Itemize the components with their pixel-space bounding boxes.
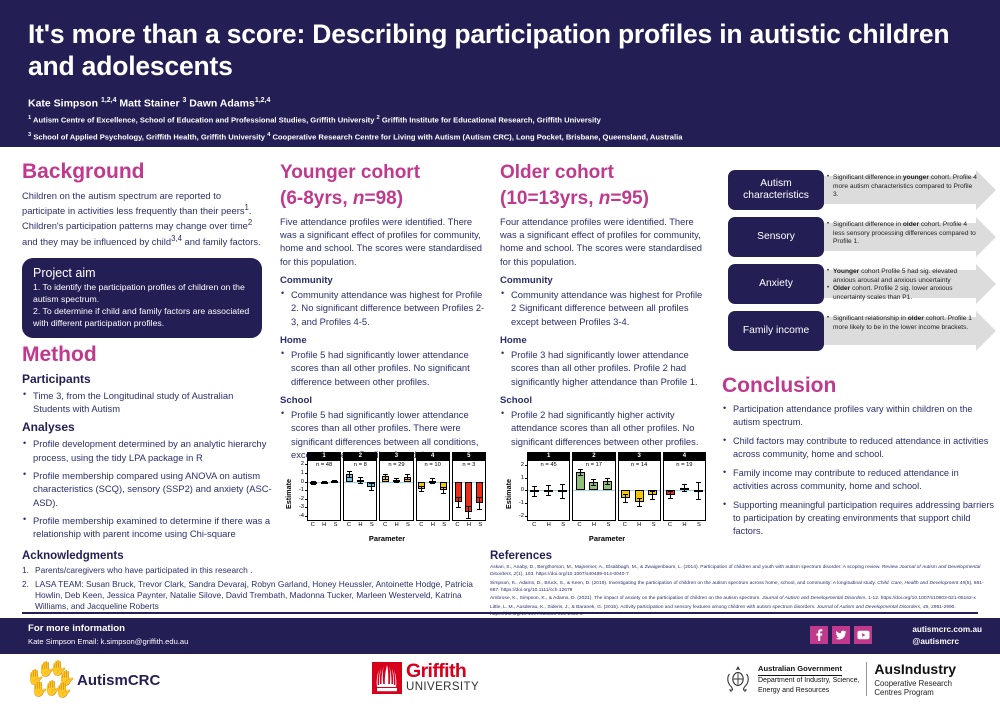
error-bar-cap-upper — [405, 474, 410, 475]
panel-sample-size: n = 3 — [453, 462, 485, 468]
panel-strip-label: 1 — [527, 452, 570, 461]
error-bar-cap-lower — [637, 506, 642, 507]
x-tick-label: C — [455, 522, 459, 528]
error-bar-cap-upper — [650, 491, 655, 492]
error-bar-cap-upper — [623, 494, 628, 495]
chart-panel-1: 1n = 48CHS — [307, 452, 341, 528]
error-bar-cap-lower — [347, 477, 352, 478]
panel-strip-label: 4 — [416, 452, 450, 461]
chart-panels: 1n = 48CHS2n = 8CHS3n = 29CHS4n = 10CHS5… — [307, 452, 486, 528]
affiliation-line-2: 3 School of Applied Psychology, Griffith… — [28, 131, 972, 143]
zero-reference-line — [573, 490, 614, 491]
younger-heading-line2: (6-8yrs, n=98) — [280, 188, 488, 209]
panel-x-ticks: CHS — [572, 522, 615, 528]
error-bar-cap-upper — [578, 469, 583, 470]
section-acknowledgments: Acknowledgments 1.Parents/caregivers who… — [22, 550, 477, 615]
list-item: Supporting meaningful participation requ… — [722, 499, 994, 538]
x-tick-label: C — [532, 522, 536, 528]
subsection-heading-school: School — [280, 395, 488, 406]
chart-panel-4: 4n = 19CHS — [663, 452, 706, 528]
younger-intro: Five attendance profiles were identified… — [280, 215, 488, 268]
x-tick-label: H — [395, 522, 399, 528]
x-tick-label: C — [623, 522, 627, 528]
panel-strip-label: 3 — [618, 452, 661, 461]
error-bar-cap-lower — [668, 498, 673, 499]
panel-plot-area: n = 48 — [307, 461, 341, 521]
acknowledgments-list: 1.Parents/caregivers who have participat… — [22, 565, 477, 612]
panel-sample-size: n = 8 — [344, 462, 376, 468]
x-tick-label: H — [322, 522, 326, 528]
factor-label: Autism characteristics — [728, 170, 824, 210]
panel-sample-size: n = 19 — [664, 462, 705, 468]
panel-x-ticks: CHS — [379, 522, 413, 528]
chart-y-axis-label: Estimate — [284, 479, 293, 509]
chart-panel-3: 3n = 29CHS — [379, 452, 413, 528]
x-tick-label: C — [347, 522, 351, 528]
x-tick-label: C — [577, 522, 581, 528]
x-tick-label: H — [467, 522, 471, 528]
older-intro: Four attendance profiles were identified… — [500, 215, 710, 268]
x-tick-label: H — [431, 522, 435, 528]
panel-plot-area: n = 29 — [379, 461, 413, 521]
affiliation-line-1: 1 Autism Centre of Excellence, School of… — [28, 114, 972, 126]
government-line-2: Department of Industry, Science, — [758, 676, 859, 685]
government-line-3: Energy and Resources — [758, 686, 859, 695]
background-heading: Background — [22, 160, 262, 184]
x-tick-label: H — [358, 522, 362, 528]
reference-item: Ambrose, K., Simpson, K., & Adams, D. (2… — [490, 595, 990, 602]
x-tick-label: C — [419, 522, 423, 528]
error-bar-cap-lower — [441, 493, 446, 494]
footer-website[interactable]: autismcrc.com.au — [912, 624, 982, 636]
y-tick-label: 0 — [521, 487, 524, 493]
facebook-icon[interactable] — [810, 626, 828, 644]
error-bar-cap-lower — [532, 496, 537, 497]
list-item: Profile 2 had significantly higher activ… — [500, 408, 710, 448]
list-item: Child factors may contribute to reduced … — [722, 435, 994, 461]
error-bar-cap-upper — [322, 481, 327, 482]
older-heading-line2: (10=13yrs, n=95) — [500, 188, 710, 209]
hands-icon: ✋ ✋ ✋ ✋ ✋ ✋ ✋ — [24, 660, 72, 700]
list-item: Profile membership compared using ANOVA … — [22, 469, 272, 509]
factor-arrow-row: Autism characteristicsSignificant differ… — [728, 170, 996, 210]
panel-plot-area: n = 17 — [572, 461, 615, 521]
error-bar-cap-upper — [668, 491, 673, 492]
error-bar-cap-upper — [532, 486, 537, 487]
footer-handle[interactable]: @autismcrc — [912, 636, 982, 648]
subsection-heading-home: Home — [280, 335, 488, 346]
panel-plot-area: n = 19 — [663, 461, 706, 521]
panel-plot-area: n = 3 — [452, 461, 486, 521]
background-paragraph: Children on the autism spectrum are repo… — [22, 189, 262, 249]
more-info-title: For more information — [28, 623, 125, 634]
error-bar-cap-lower — [560, 498, 565, 499]
error-bar-cap-lower — [546, 495, 551, 496]
error-bar-cap-upper — [560, 484, 565, 485]
error-bar-cap-upper — [546, 485, 551, 486]
panel-strip-label: 1 — [307, 452, 341, 461]
error-bar-cap-upper — [332, 480, 337, 481]
griffith-university-logo: Griffith UNIVERSITY — [372, 662, 479, 694]
chart-panel-1: 1n = 45CHS — [527, 452, 570, 528]
panel-sample-size: n = 29 — [380, 462, 412, 468]
error-bar-cap-lower — [394, 482, 399, 483]
older-heading-line1: Older cohort — [500, 162, 710, 183]
error-bar-cap-lower — [650, 499, 655, 500]
panel-strip-label: 2 — [343, 452, 377, 461]
panel-x-ticks: CHS — [663, 522, 706, 528]
y-tick-label: 2 — [301, 461, 304, 467]
error-bar — [468, 506, 469, 519]
panel-sample-size: n = 17 — [573, 462, 614, 468]
list-item: Profile development determined by an ana… — [22, 437, 272, 464]
error-bar-cap-lower — [477, 509, 482, 510]
x-tick-label: S — [370, 522, 374, 528]
error-bar-cap-upper — [682, 484, 687, 485]
error-bar-cap-lower — [591, 485, 596, 486]
panel-x-ticks: CHS — [343, 522, 377, 528]
error-bar — [625, 494, 626, 502]
error-bar — [371, 483, 372, 490]
x-tick-label: S — [334, 522, 338, 528]
ausindustry-title: AusIndustry — [874, 661, 956, 679]
contact-info: Kate Simpson Email: k.simpson@griffith.e… — [28, 637, 188, 646]
panel-strip-label: 4 — [663, 452, 706, 461]
griffith-university-text: UNIVERSITY — [406, 681, 479, 694]
autismcrc-logo: ✋ ✋ ✋ ✋ ✋ ✋ ✋ AutismCRC — [24, 660, 160, 700]
error-bar-cap-lower — [430, 483, 435, 484]
y-tick-label: -4 — [299, 513, 304, 519]
error-bar-cap-lower — [623, 502, 628, 503]
autismcrc-wordmark: AutismCRC — [77, 672, 160, 689]
x-tick-label: S — [406, 522, 410, 528]
list-item: Community attendance was highest for Pro… — [500, 288, 710, 328]
panel-sample-size: n = 45 — [528, 462, 569, 468]
error-bar — [534, 486, 535, 496]
error-bar-cap-lower — [332, 482, 337, 483]
subsection-heading-community: Community — [280, 275, 488, 286]
project-aim-2: 2. To determine if child and family fact… — [33, 305, 251, 329]
list-item: Profile 3 had significantly lower attend… — [500, 348, 710, 388]
error-bar-cap-lower — [383, 479, 388, 480]
error-bar — [698, 482, 699, 499]
error-bar — [670, 491, 671, 498]
error-bar — [548, 485, 549, 495]
error-bar-cap-lower — [578, 475, 583, 476]
error-bar — [684, 484, 685, 491]
list-item: Time 3, from the Longitudinal study of A… — [22, 389, 272, 416]
list-item: Family income may contribute to reduced … — [722, 467, 994, 493]
x-tick-label: S — [697, 522, 701, 528]
panel-x-ticks: CHS — [307, 522, 341, 528]
x-tick-label: C — [383, 522, 387, 528]
chart-panels: 1n = 45CHS2n = 17CHS3n = 14CHS4n = 19CHS — [527, 452, 706, 528]
section-older-cohort: Older cohort (10=13yrs, n=95) Four atten… — [500, 162, 710, 453]
panel-plot-area: n = 10 — [416, 461, 450, 521]
panel-x-ticks: CHS — [452, 522, 486, 528]
chart-panel-2: 2n = 8CHS — [343, 452, 377, 528]
youtube-icon[interactable] — [854, 626, 872, 644]
x-tick-label: C — [668, 522, 672, 528]
error-bar-cap-upper — [369, 483, 374, 484]
panel-sample-size: n = 48 — [308, 462, 340, 468]
factor-arrow-row: AnxietyYounger cohort Profile 5 had sig.… — [728, 264, 996, 304]
list-item: Community attendance was highest for Pro… — [280, 288, 488, 328]
error-bar-cap-upper — [637, 498, 642, 499]
section-references: References Askari, S., Anaby, D., Bergth… — [490, 550, 990, 620]
error-bar-cap-upper — [383, 474, 388, 475]
references-list: Askari, S., Anaby, D., Bergthorson, M., … — [490, 564, 990, 619]
chart-x-axis-label: Parameter — [504, 534, 710, 543]
x-tick-label: H — [547, 522, 551, 528]
government-line-1: Australian Government — [758, 664, 842, 676]
griffith-name: Griffith — [406, 662, 479, 681]
error-bar-cap-lower — [311, 484, 316, 485]
factor-arrow-row: Family incomeSignificant relationship in… — [728, 311, 996, 351]
factor-label: Anxiety — [728, 264, 824, 304]
y-tick-label: 1 — [301, 470, 304, 476]
error-bar-cap-lower — [682, 491, 687, 492]
panel-sample-size: n = 10 — [417, 462, 449, 468]
factor-arrow-row: SensorySignificant difference in older c… — [728, 217, 996, 257]
analyses-heading: Analyses — [22, 420, 272, 434]
project-aim-title: Project aim — [33, 266, 251, 280]
conclusion-heading: Conclusion — [722, 374, 994, 398]
poster-header: It's more than a score: Describing parti… — [0, 0, 1000, 147]
y-tick-label: -2 — [299, 496, 304, 502]
x-tick-label: S — [442, 522, 446, 528]
panel-strip-label: 2 — [572, 452, 615, 461]
x-tick-label: H — [592, 522, 596, 528]
section-background: Background Children on the autism spectr… — [22, 160, 262, 338]
footer-bar: For more information Kate Simpson Email:… — [0, 618, 1000, 654]
reference-item: Askari, S., Anaby, D., Bergthorson, M., … — [490, 564, 990, 579]
error-bar — [562, 484, 563, 498]
chart-panel-2: 2n = 17CHS — [572, 452, 615, 528]
error-bar-cap-upper — [430, 478, 435, 479]
participants-list: Time 3, from the Longitudinal study of A… — [22, 389, 272, 416]
section-conclusion: Conclusion Participation attendance prof… — [722, 374, 994, 544]
panel-strip-label: 5 — [452, 452, 486, 461]
x-tick-label: S — [478, 522, 482, 528]
x-tick-label: S — [652, 522, 656, 528]
error-bar-cap-lower — [405, 479, 410, 480]
y-tick-label: -3 — [299, 504, 304, 510]
analyses-list: Profile development determined by an ana… — [22, 437, 272, 540]
error-bar-cap-lower — [456, 507, 461, 508]
conclusion-list: Participation attendance profiles vary w… — [722, 403, 994, 539]
panel-strip-label: 3 — [379, 452, 413, 461]
subsection-list: Profile 3 had significantly lower attend… — [500, 348, 710, 388]
error-bar-cap-upper — [591, 479, 596, 480]
logo-divider — [866, 662, 867, 696]
panel-x-ticks: CHS — [527, 522, 570, 528]
footer-website-block: autismcrc.com.au @autismcrc — [912, 624, 982, 648]
error-bar-cap-lower — [322, 483, 327, 484]
acknowledgments-heading: Acknowledgments — [22, 550, 477, 562]
ausindustry-sub-1: Cooperative Research — [874, 679, 956, 689]
error-bar — [458, 497, 459, 507]
ausindustry-block: AusIndustry Cooperative Research Centres… — [874, 661, 956, 698]
acknowledgment-item: 1.Parents/caregivers who have participat… — [22, 565, 477, 576]
australian-government-logo: Australian Government Department of Indu… — [725, 661, 956, 698]
chart-x-axis-label: Parameter — [284, 534, 490, 543]
chart-panel-3: 3n = 14CHS — [618, 452, 661, 528]
error-bar-cap-upper — [605, 478, 610, 479]
error-bar-cap-lower — [369, 490, 374, 491]
chart-younger-cohort: Estimate210-1-2-3-41n = 48CHS2n = 8CHS3n… — [284, 448, 490, 548]
acknowledgment-item: 2.LASA TEAM: Susan Bruck, Trevor Clark, … — [22, 579, 477, 612]
logo-row: ✋ ✋ ✋ ✋ ✋ ✋ ✋ AutismCRC Griffith UNIVERS… — [0, 656, 1000, 707]
griffith-wordmark: Griffith UNIVERSITY — [406, 662, 479, 693]
error-bar — [652, 491, 653, 499]
younger-heading-line1: Younger cohort — [280, 162, 488, 183]
error-bar — [479, 497, 480, 509]
ausindustry-sub-2: Centres Program — [874, 688, 956, 698]
panel-plot-area: n = 8 — [343, 461, 377, 521]
error-bar-cap-upper — [394, 478, 399, 479]
footer-divider — [22, 612, 978, 614]
commonwealth-crest-icon — [725, 664, 751, 694]
panel-x-ticks: CHS — [618, 522, 661, 528]
list-item: Profile membership examined to determine… — [22, 514, 272, 541]
section-younger-cohort: Younger cohort (6-8yrs, n=98) Five atten… — [280, 162, 488, 466]
social-links — [810, 626, 872, 644]
government-text-block: Australian Government Department of Indu… — [758, 664, 859, 695]
author-list: Kate Simpson 1,2,4 Matt Stainer 3 Dawn A… — [28, 97, 972, 110]
older-sections: CommunityCommunity attendance was highes… — [500, 275, 710, 448]
factor-finding-text: Younger cohort Profile 5 had sig. elevat… — [827, 268, 979, 303]
error-bar-cap-lower — [466, 518, 471, 519]
error-bar-cap-upper — [696, 482, 701, 483]
method-heading: Method — [22, 343, 272, 367]
panel-sample-size: n = 14 — [619, 462, 660, 468]
subsection-heading-school: School — [500, 395, 710, 406]
subsection-list: Profile 2 had significantly higher activ… — [500, 408, 710, 448]
error-bar-cap-upper — [477, 497, 482, 498]
chart-y-axis-label: Estimate — [504, 479, 513, 509]
y-tick-label: -1 — [299, 487, 304, 493]
poster-canvas: It's more than a score: Describing parti… — [0, 0, 1000, 707]
subsection-list: Community attendance was highest for Pro… — [500, 288, 710, 328]
reference-item: Simpson, K., Adams, D., Bruck, S., & Kee… — [490, 580, 990, 595]
x-tick-label: H — [682, 522, 686, 528]
x-tick-label: H — [637, 522, 641, 528]
factor-finding-text: Significant difference in older cohort. … — [827, 221, 979, 247]
error-bar-cap-upper — [456, 497, 461, 498]
error-bar-cap-lower — [696, 499, 701, 500]
page-title: It's more than a score: Describing parti… — [28, 18, 972, 83]
y-tick-label: 0 — [301, 479, 304, 485]
error-bar-cap-upper — [347, 471, 352, 472]
subsection-heading-community: Community — [500, 275, 710, 286]
error-bar-cap-lower — [605, 484, 610, 485]
panel-plot-area: n = 14 — [618, 461, 661, 521]
participants-heading: Participants — [22, 372, 272, 386]
error-bar — [639, 498, 640, 506]
griffith-flame-icon — [372, 662, 402, 694]
chart-panel-5: 5n = 3CHS — [452, 452, 486, 528]
error-bar-cap-lower — [358, 483, 363, 484]
chart-older-cohort: Estimate210-1-21n = 45CHS2n = 17CHS3n = … — [504, 448, 710, 548]
y-tick-label: -1 — [519, 500, 524, 506]
factor-finding-text: Significant difference in younger cohort… — [827, 174, 979, 200]
factor-finding-text: Significant relationship in older cohort… — [827, 315, 979, 332]
panel-plot-area: n = 45 — [527, 461, 570, 521]
twitter-icon[interactable] — [832, 626, 850, 644]
error-bar-cap-upper — [466, 506, 471, 507]
error-bar-cap-upper — [419, 486, 424, 487]
project-aim-1: 1. To identify the participation profile… — [33, 281, 251, 305]
factor-arrows: Autism characteristicsSignificant differ… — [728, 170, 996, 358]
factor-label: Family income — [728, 311, 824, 351]
y-tick-label: 2 — [521, 462, 524, 468]
list-item: Profile 5 had significantly lower attend… — [280, 348, 488, 388]
factor-label: Sensory — [728, 217, 824, 257]
error-bar-cap-upper — [358, 477, 363, 478]
panel-x-ticks: CHS — [416, 522, 450, 528]
y-tick-label: 1 — [521, 475, 524, 481]
x-tick-label: S — [606, 522, 610, 528]
list-item: Participation attendance profiles vary w… — [722, 403, 994, 429]
subsection-heading-home: Home — [500, 335, 710, 346]
error-bar-cap-lower — [419, 491, 424, 492]
error-bar-cap-upper — [441, 487, 446, 488]
chart-panel-4: 4n = 10CHS — [416, 452, 450, 528]
section-method: Method Participants Time 3, from the Lon… — [22, 343, 272, 546]
references-heading: References — [490, 550, 990, 562]
y-tick-label: -2 — [519, 513, 524, 519]
x-tick-label: C — [311, 522, 315, 528]
error-bar-cap-upper — [311, 481, 316, 482]
younger-sections: CommunityCommunity attendance was highes… — [280, 275, 488, 461]
x-tick-label: S — [561, 522, 565, 528]
project-aim-box: Project aim 1. To identify the participa… — [22, 258, 262, 338]
subsection-list: Community attendance was highest for Pro… — [280, 288, 488, 328]
subsection-list: Profile 5 had significantly lower attend… — [280, 348, 488, 388]
